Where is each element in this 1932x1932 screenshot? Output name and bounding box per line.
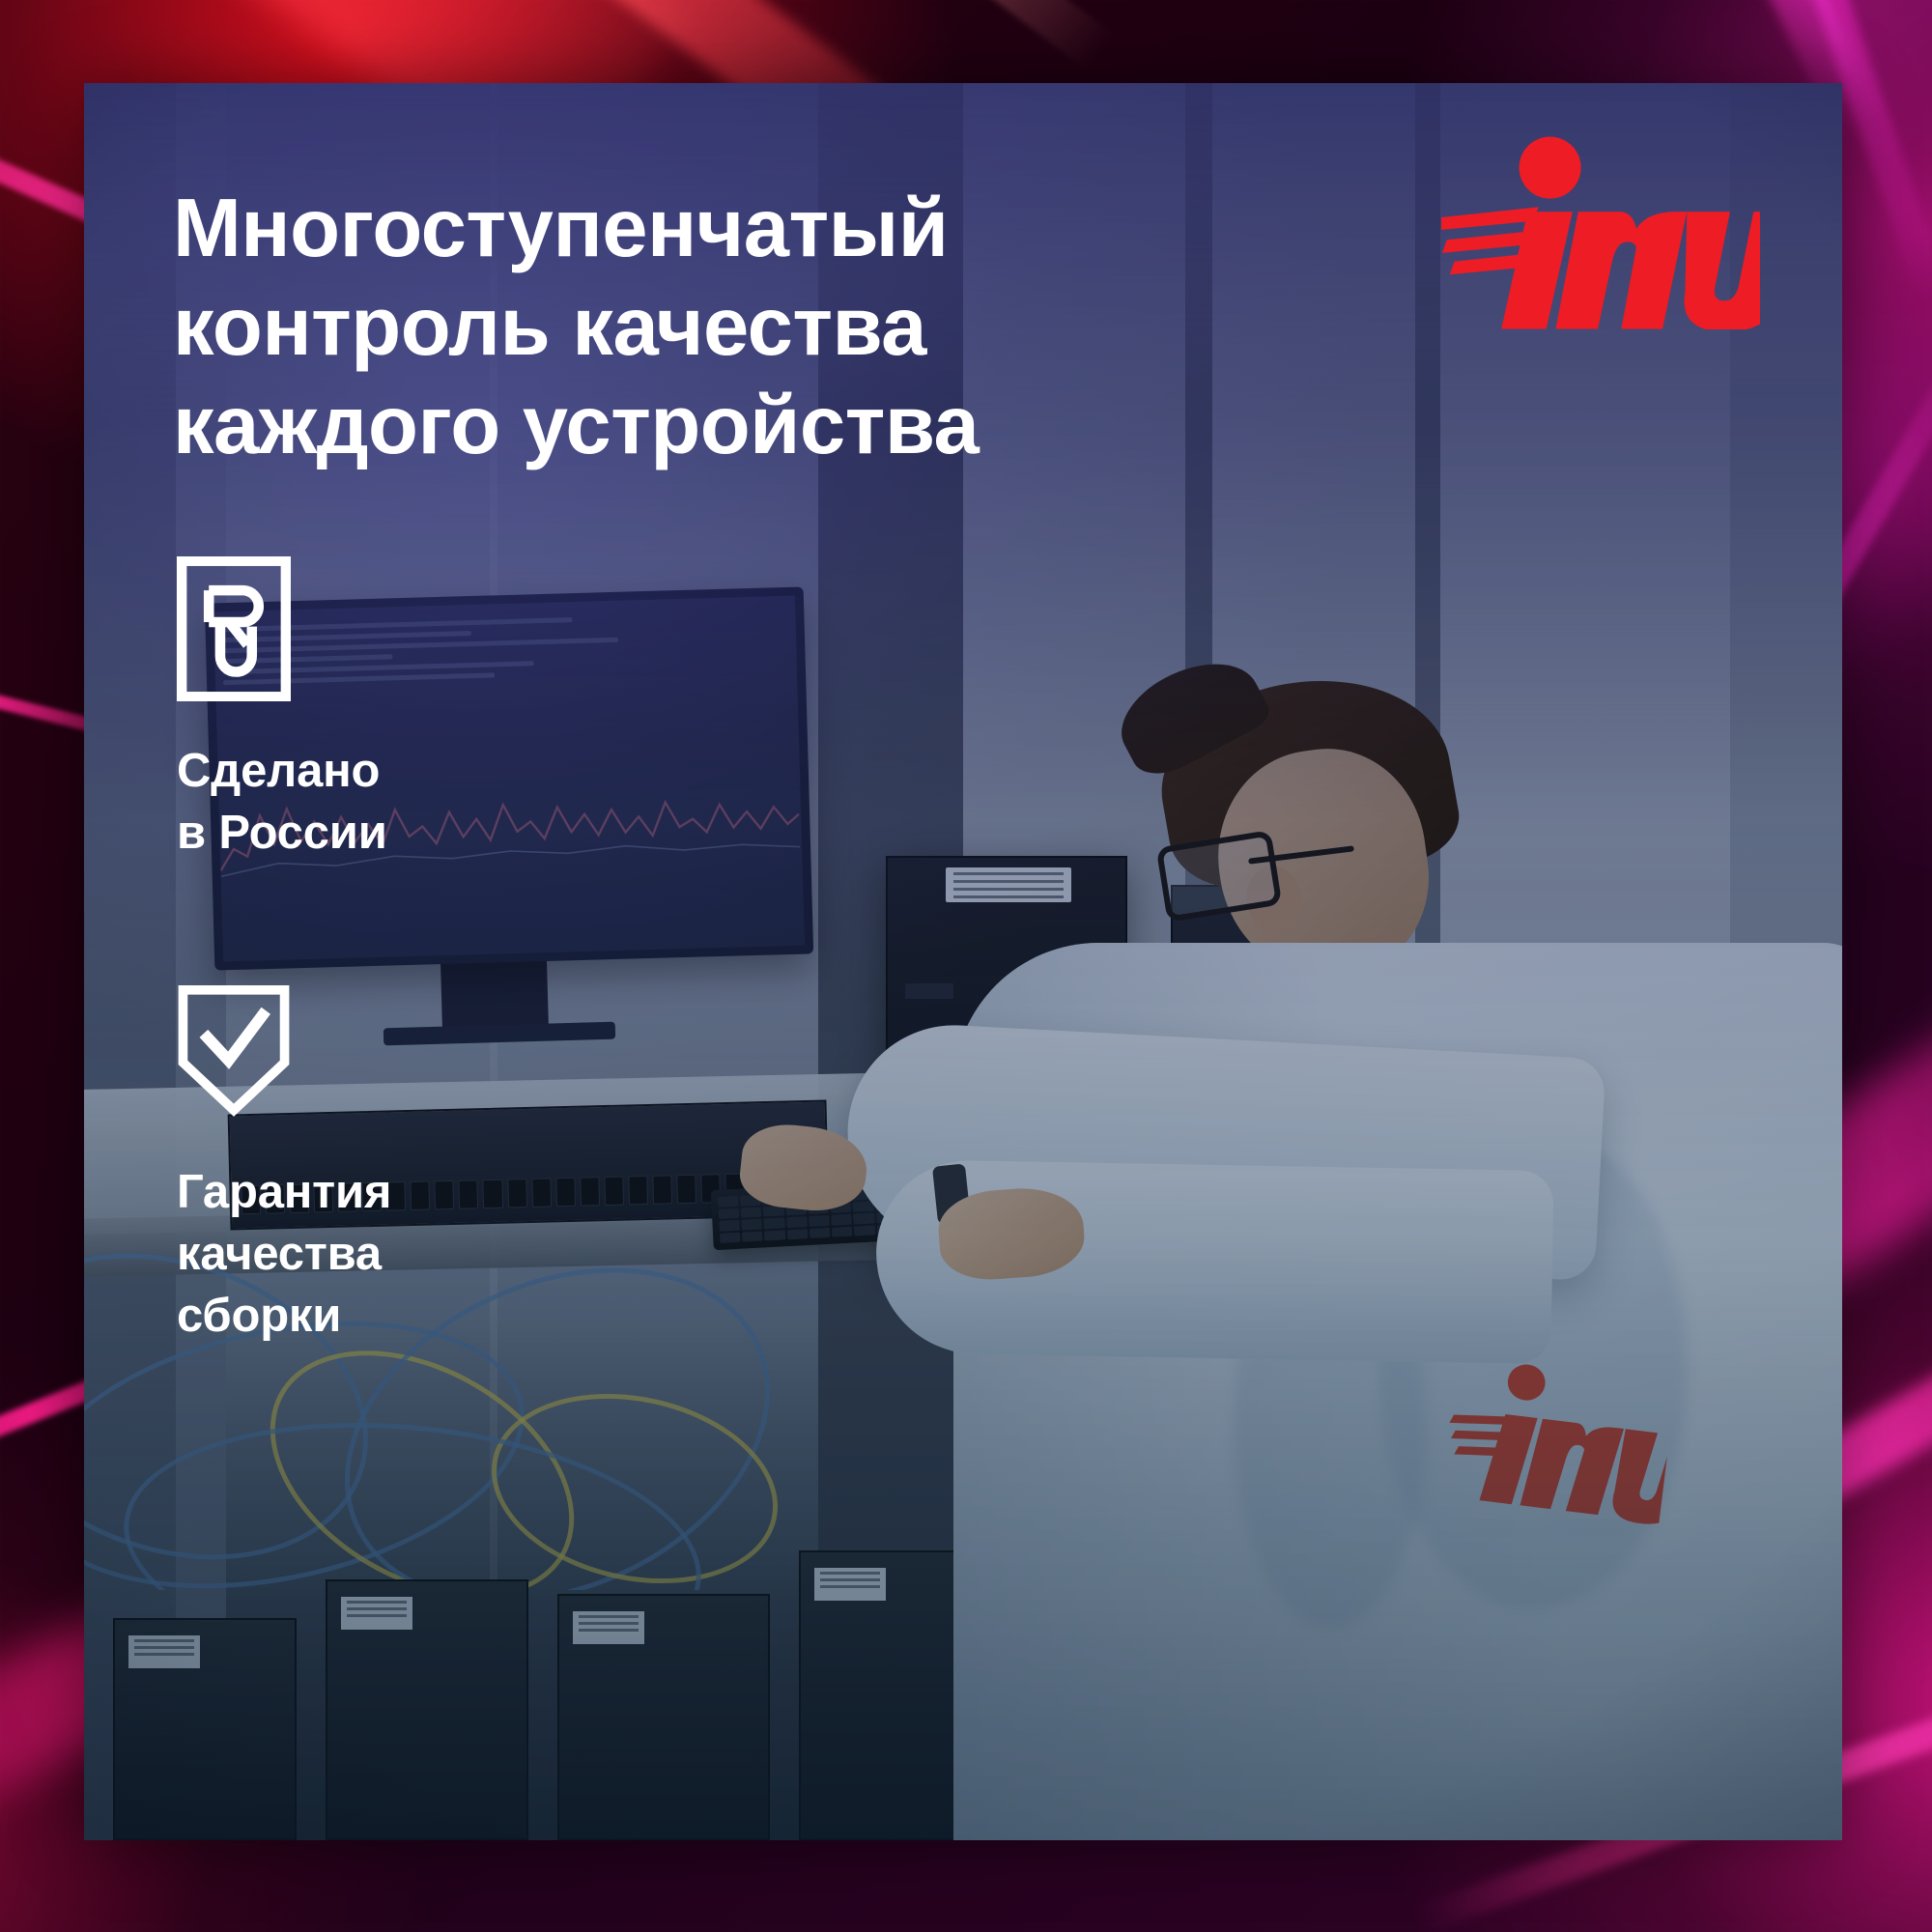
iru-logo-icon	[1441, 136, 1760, 329]
shield-check-icon	[177, 978, 291, 1122]
badge-label-line: Сделано	[177, 741, 582, 803]
headline-line-1: Многоступенчатый	[173, 180, 1207, 278]
badge-label-line: в России	[177, 803, 582, 865]
headline-line-2: контроль качества	[173, 278, 1207, 377]
badge-label-line: сборки	[177, 1286, 582, 1348]
badge-made-in-russia: Сделано в России	[177, 556, 582, 864]
badge-label-quality-guarantee: Гарантия качества сборки	[177, 1162, 582, 1347]
feature-badges: Сделано в России Гарантия качества сборк…	[177, 556, 582, 1461]
badge-quality-guarantee: Гарантия качества сборки	[177, 978, 582, 1347]
headline: Многоступенчатый контроль качества каждо…	[173, 180, 1207, 475]
poster-content: Многоступенчатый контроль качества каждо…	[84, 83, 1842, 1840]
badge-label-made-in-russia: Сделано в России	[177, 741, 582, 864]
badge-label-line: Гарантия	[177, 1162, 582, 1224]
made-in-russia-ru-mark-icon	[177, 556, 291, 701]
badge-label-line: качества	[177, 1224, 582, 1286]
headline-line-3: каждого устройства	[173, 377, 1207, 475]
poster-card: Многоступенчатый контроль качества каждо…	[84, 83, 1842, 1840]
